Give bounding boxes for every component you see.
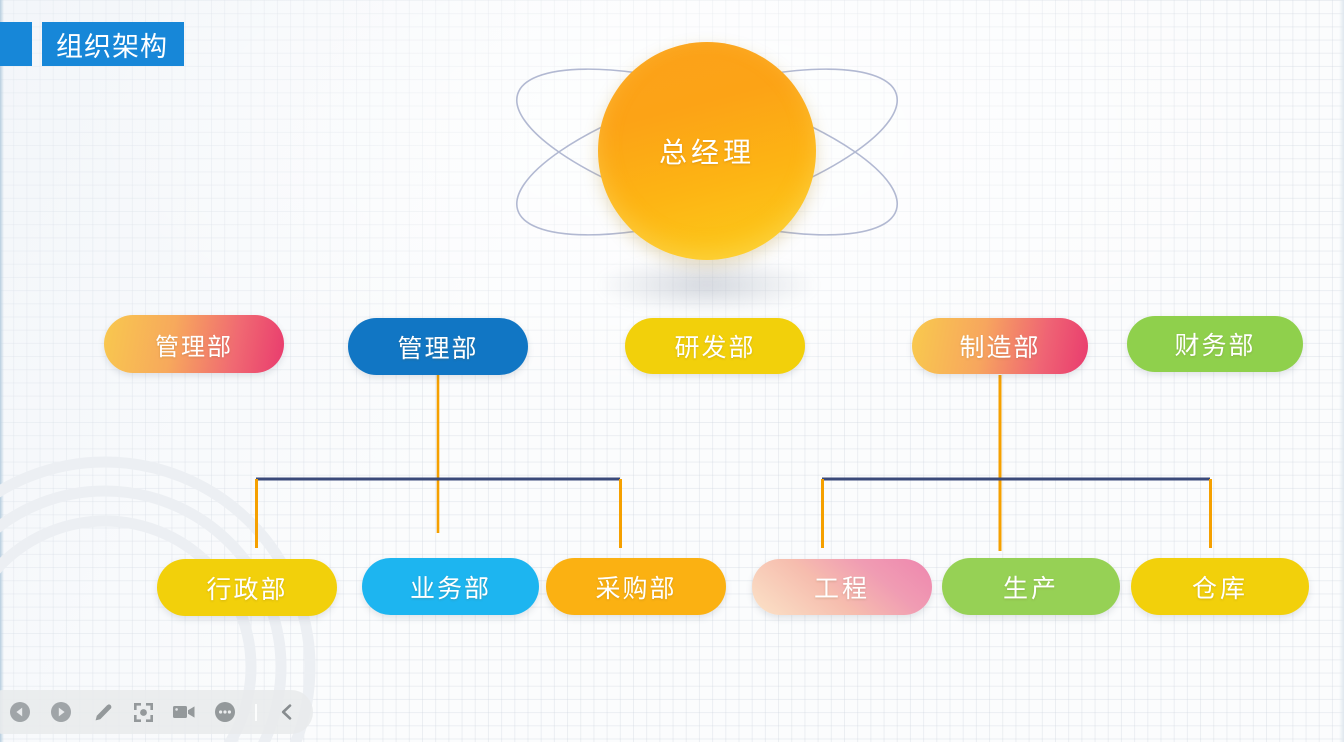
node-level2-4-label: 生产	[1003, 569, 1059, 605]
node-level2-3[interactable]: 工程	[752, 559, 932, 615]
node-level1-0-label: 管理部	[155, 327, 233, 362]
chevron-left-icon	[277, 702, 297, 722]
more-options-button[interactable]	[213, 700, 237, 724]
right-edge-strip	[1339, 0, 1344, 742]
left-edge-strip	[0, 0, 4, 742]
presentation-slide: 组织架构 总经理 管理部 管理部 研发部	[0, 0, 1344, 742]
node-level1-3[interactable]: 制造部	[912, 318, 1088, 374]
node-level2-4[interactable]: 生产	[942, 558, 1120, 615]
hub-drop-shadow	[597, 256, 817, 314]
node-level2-5-label: 仓库	[1192, 569, 1248, 605]
node-level2-2-label: 采购部	[595, 569, 676, 605]
node-level1-4-label: 财务部	[1174, 326, 1255, 362]
node-level2-5[interactable]: 仓库	[1131, 558, 1309, 615]
slide-title-block: 组织架构	[0, 22, 184, 66]
player-toolbar[interactable]	[0, 690, 313, 734]
node-level1-2[interactable]: 研发部	[625, 318, 805, 374]
record-button[interactable]	[172, 700, 196, 724]
node-general-manager-label: 总经理	[659, 131, 755, 171]
toolbar-divider	[255, 704, 257, 721]
node-level1-0[interactable]: 管理部	[104, 315, 284, 373]
node-level1-1-label: 管理部	[397, 329, 478, 365]
node-level2-2[interactable]: 采购部	[546, 558, 726, 615]
hub-node-group: 总经理	[502, 38, 912, 298]
node-level2-0[interactable]: 行政部	[157, 559, 337, 616]
title-accent-square	[0, 22, 32, 66]
node-general-manager[interactable]: 总经理	[598, 42, 816, 260]
node-level1-2-label: 研发部	[674, 328, 755, 364]
screenshot-button[interactable]	[131, 700, 155, 724]
node-level1-1[interactable]: 管理部	[348, 318, 528, 375]
collapse-toolbar-button[interactable]	[275, 700, 299, 724]
next-circle-icon	[50, 701, 72, 723]
node-level1-3-label: 制造部	[959, 328, 1040, 364]
page-title: 组织架构	[42, 22, 184, 66]
next-slide-button[interactable]	[49, 700, 73, 724]
pencil-icon	[91, 701, 114, 724]
ellipsis-icon	[214, 701, 236, 723]
node-level2-3-label: 工程	[814, 569, 870, 605]
annotate-button[interactable]	[90, 700, 114, 724]
node-level1-4[interactable]: 财务部	[1127, 316, 1303, 372]
previous-slide-button[interactable]	[8, 700, 32, 724]
prev-circle-icon	[9, 701, 31, 723]
video-camera-icon	[172, 702, 196, 722]
node-level2-1-label: 业务部	[410, 569, 491, 605]
node-level2-1[interactable]: 业务部	[362, 558, 539, 615]
focus-frame-icon	[132, 701, 155, 724]
node-level2-0-label: 行政部	[206, 570, 287, 606]
